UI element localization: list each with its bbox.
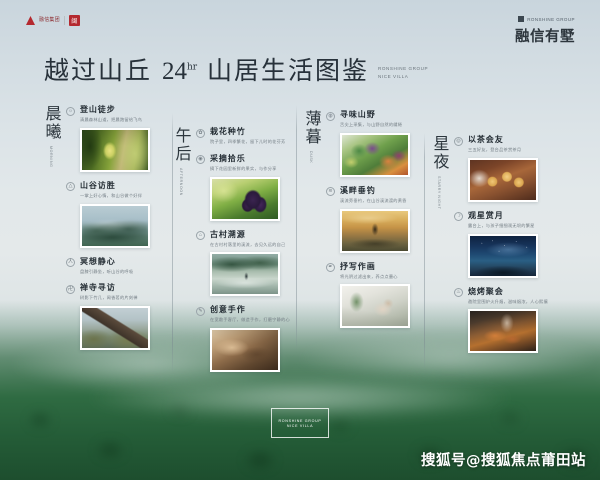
section-label-afternoon: 午后 AFTERNOON bbox=[166, 127, 196, 196]
item-desc: 清晨森林山道，把晨跑留给飞鸟 bbox=[80, 117, 186, 123]
poster-canvas: 融信集团 闽 RONSHINE GROUP 融信有墅 越过山丘 24hr 山居生… bbox=[0, 0, 600, 480]
list-item[interactable]: ☽ 观星赏月 露台上，与孩子细细观无垠的繁星 bbox=[454, 211, 574, 278]
section-label-en: DUSK bbox=[309, 151, 313, 163]
brand-logo-left: 融信集团 闽 bbox=[26, 15, 80, 26]
fishing-icon: ≋ bbox=[326, 187, 335, 196]
section-label-cn: 星夜 bbox=[430, 135, 449, 171]
thumbnail-vegetables[interactable] bbox=[340, 133, 410, 177]
section-label-morning: 晨曦 MORNING bbox=[36, 105, 66, 168]
thumbnail-village-river[interactable] bbox=[210, 252, 280, 296]
thumbnail-temple[interactable] bbox=[80, 306, 150, 350]
thumbnail-grapes[interactable] bbox=[210, 177, 280, 221]
headline-subtitle: RONSHINE GROUP NICE VILLA bbox=[378, 65, 428, 84]
brand-badge-icon: 闽 bbox=[69, 15, 80, 26]
watermark: 搜狐号@搜狐焦点莆田站 bbox=[421, 449, 586, 470]
headline: 越过山丘 24hr 山居生活图鉴 bbox=[44, 58, 369, 84]
item-list-night: ◎ 以茶会友 三五好友，登台品茶赏茶月 ☽ 观星赏月 露台上，与孩子细细观无垠的… bbox=[454, 135, 574, 362]
section-label-en: STARRY NIGHT bbox=[437, 176, 441, 210]
footer-logo: RONSHINE GROUP NICE VILLA bbox=[271, 408, 329, 438]
list-item[interactable]: ◎ 以茶会友 三五好友，登台品茶赏茶月 bbox=[454, 135, 574, 202]
section-label-en: MORNING bbox=[49, 146, 53, 168]
sunrise-icon: ☼ bbox=[66, 107, 75, 116]
brand-wordmark-left: 融信集团 bbox=[39, 18, 60, 24]
village-icon: ⌂ bbox=[196, 231, 205, 240]
timeline-columns: 晨曦 MORNING ☼ 登山徒步 清晨森林山道，把晨跑留给飞鸟 bbox=[0, 105, 600, 405]
column-morning: 晨曦 MORNING ☼ 登山徒步 清晨森林山道，把晨跑留给飞鸟 bbox=[36, 105, 186, 359]
meditation-icon: 人 bbox=[66, 258, 75, 267]
headline-sup: hr bbox=[187, 63, 197, 73]
item-title: 登山徒步 bbox=[80, 105, 186, 115]
headline-part2: 山居生活图鉴 bbox=[207, 56, 369, 85]
item-title: 以茶会友 bbox=[468, 135, 574, 145]
headline-number: 24 bbox=[162, 58, 187, 85]
item-desc: 三五好友，登台品茶赏茶月 bbox=[468, 147, 574, 153]
headline-subtitle-line1: RONSHINE GROUP bbox=[378, 65, 428, 73]
section-label-cn: 午后 bbox=[172, 127, 191, 163]
item-title: 寻味山野 bbox=[340, 110, 446, 120]
item-title: 观星赏月 bbox=[468, 211, 574, 221]
handcraft-icon: ✎ bbox=[196, 307, 205, 316]
basket-icon: ◉ bbox=[196, 155, 205, 164]
section-label-cn: 晨曦 bbox=[42, 105, 61, 141]
thumbnail-handcraft[interactable] bbox=[210, 328, 280, 372]
item-desc: 邀院里围炉火升烟，滋味烟浓，人心熙攘 bbox=[468, 299, 574, 305]
section-label-night: 星夜 STARRY NIGHT bbox=[424, 135, 454, 210]
teacup-icon: ◎ bbox=[454, 137, 463, 146]
section-label-dusk: 薄暮 DUSK bbox=[296, 110, 326, 163]
item-desc: 露台上，与孩子细细观无垠的繁星 bbox=[468, 223, 574, 229]
ronshine-triangle-icon bbox=[26, 16, 35, 25]
brand-logo-right: RONSHINE GROUP 融信有墅 bbox=[515, 16, 575, 46]
grill-icon: ♨ bbox=[454, 288, 463, 297]
section-label-cn: 薄暮 bbox=[302, 110, 321, 146]
thumbnail-fishing[interactable] bbox=[340, 209, 410, 253]
thumbnail-hiking[interactable] bbox=[80, 128, 150, 172]
section-label-en: AFTERNOON bbox=[179, 168, 183, 196]
moon-icon: ☽ bbox=[454, 212, 463, 221]
thumbnail-bbq[interactable] bbox=[468, 309, 538, 353]
headline-subtitle-line2: NICE VILLA bbox=[378, 73, 428, 81]
flower-icon: ✿ bbox=[196, 129, 205, 138]
thumbnail-tea[interactable] bbox=[468, 158, 538, 202]
footer-logo-line2: NICE VILLA bbox=[287, 424, 313, 428]
item-title: 烧烤聚会 bbox=[468, 287, 574, 297]
list-item[interactable]: ♨ 烧烤聚会 邀院里围炉火升烟，滋味烟浓，人心熙攘 bbox=[454, 287, 574, 354]
headline-part1: 越过山丘 bbox=[44, 56, 152, 85]
mountain-icon: △ bbox=[66, 182, 75, 191]
logo-divider bbox=[64, 16, 65, 25]
thumbnail-valley[interactable] bbox=[80, 204, 150, 248]
thumbnail-stargazing[interactable] bbox=[468, 234, 538, 278]
brand-en-right: RONSHINE GROUP bbox=[515, 16, 575, 22]
temple-icon: 卍 bbox=[66, 285, 75, 294]
footer-logo-line1: RONSHINE GROUP bbox=[279, 419, 322, 423]
brand-square-icon bbox=[518, 16, 524, 22]
item-desc: 舌尖上采集，与山野自然的缱绻 bbox=[340, 122, 446, 128]
column-night: 星夜 STARRY NIGHT ◎ 以茶会友 三五好友，登台品茶赏茶月 bbox=[424, 135, 574, 362]
page-title: 越过山丘 24hr 山居生活图鉴 RONSHINE GROUP NICE VIL… bbox=[44, 58, 428, 84]
thumbnail-painting[interactable] bbox=[340, 284, 410, 328]
brush-icon: ✒ bbox=[326, 263, 335, 272]
column-afternoon: 午后 AFTERNOON ✿ 栽花种竹 院子里，四季繁花，留下儿时的花芬芳 bbox=[166, 127, 316, 381]
brand-cn-right: 融信有墅 bbox=[515, 25, 575, 46]
vegetable-icon: ◍ bbox=[326, 112, 335, 121]
